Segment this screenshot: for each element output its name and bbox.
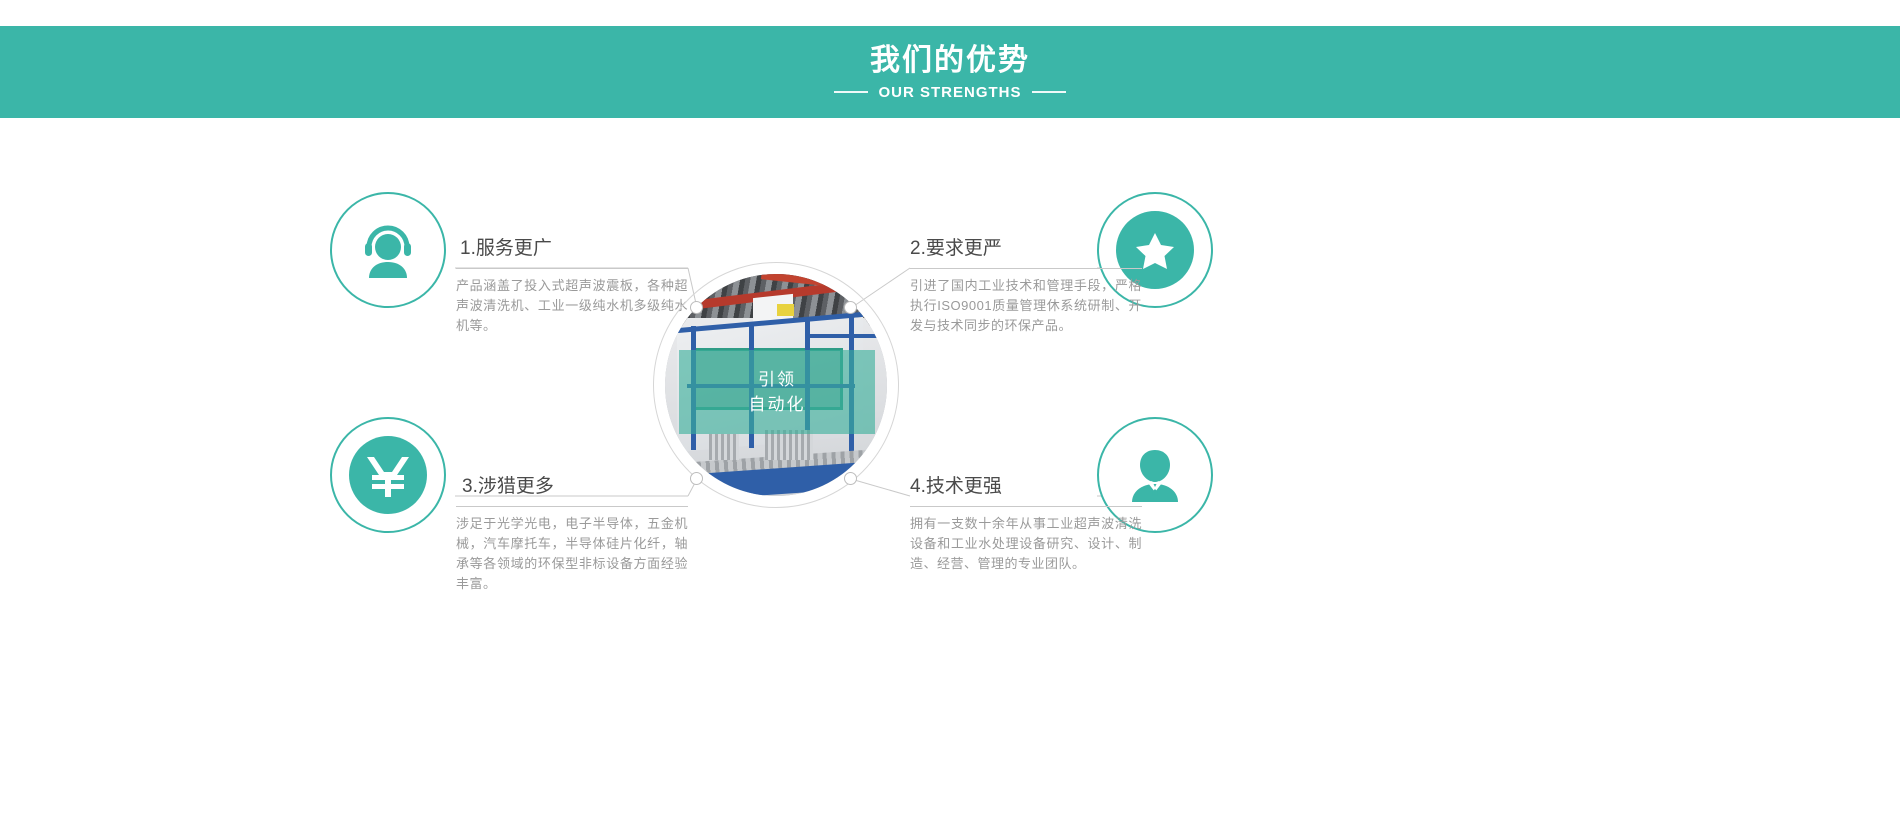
- strength-divider-4: [910, 506, 1142, 507]
- page-subtitle-english: OUR STRENGTHS: [878, 84, 1021, 101]
- rule-right-icon: [1032, 91, 1066, 93]
- connector-node-bottom-right: [844, 472, 857, 485]
- strength-body-4: 拥有一支数十余年从事工业超声波清洗设备和工业水处理设备研究、设计、制造、经营、管…: [910, 514, 1142, 574]
- strength-icon-badge-3[interactable]: [330, 417, 446, 533]
- strength-divider-2: [910, 268, 1142, 269]
- photo-caption-overlay: 引领 自动化: [679, 350, 875, 434]
- yen-currency-icon-disc: [349, 436, 427, 514]
- section-header-band: 我们的优势 OUR STRENGTHS: [0, 26, 1900, 118]
- strength-divider-1: [456, 268, 688, 269]
- strength-block-2: 2.要求更严 引进了国内工业技术和管理手段，严格执行ISO9001质量管理休系统…: [910, 238, 1142, 336]
- strength-block-3: 3.涉猎更多 涉足于光学光电，电子半导体，五金机械，汽车摩托车，半导体硅片化纤，…: [456, 476, 688, 594]
- strength-title-1: 1.服务更广: [456, 238, 688, 268]
- overlay-line-2: 自动化: [749, 392, 806, 417]
- page-title: 我们的优势: [870, 44, 1030, 77]
- strength-body-3: 涉足于光学光电，电子半导体，五金机械，汽车摩托车，半导体硅片化纤，轴承等各领域的…: [456, 514, 688, 594]
- strength-title-4: 4.技术更强: [910, 476, 1142, 506]
- connector-lines: [0, 118, 1900, 831]
- strength-divider-3: [456, 506, 688, 507]
- headset-support-icon: [349, 211, 427, 289]
- rule-left-icon: [834, 91, 868, 93]
- overlay-line-1: 引领: [758, 367, 796, 392]
- strength-icon-badge-1[interactable]: [330, 192, 446, 308]
- connector-node-bottom-left: [690, 472, 703, 485]
- strength-body-1: 产品涵盖了投入式超声波震板，各种超声波清洗机、工业一级纯水机多级纯水机等。: [456, 276, 688, 336]
- yen-currency-icon: [366, 452, 410, 498]
- connector-node-top-right: [844, 301, 857, 314]
- connector-node-top-left: [690, 301, 703, 314]
- strength-block-1: 1.服务更广 产品涵盖了投入式超声波震板，各种超声波清洗机、工业一级纯水机多级纯…: [456, 238, 688, 336]
- subtitle-row: OUR STRENGTHS: [834, 84, 1065, 101]
- strength-title-3: 3.涉猎更多: [456, 476, 688, 506]
- strengths-diagram: 1.服务更广 产品涵盖了投入式超声波震板，各种超声波清洗机、工业一级纯水机多级纯…: [0, 118, 1900, 831]
- strength-body-2: 引进了国内工业技术和管理手段，严格执行ISO9001质量管理休系统研制、开发与技…: [910, 276, 1142, 336]
- strength-block-4: 4.技术更强 拥有一支数十余年从事工业超声波清洗设备和工业水处理设备研究、设计、…: [910, 476, 1142, 574]
- strength-title-2: 2.要求更严: [910, 238, 1142, 268]
